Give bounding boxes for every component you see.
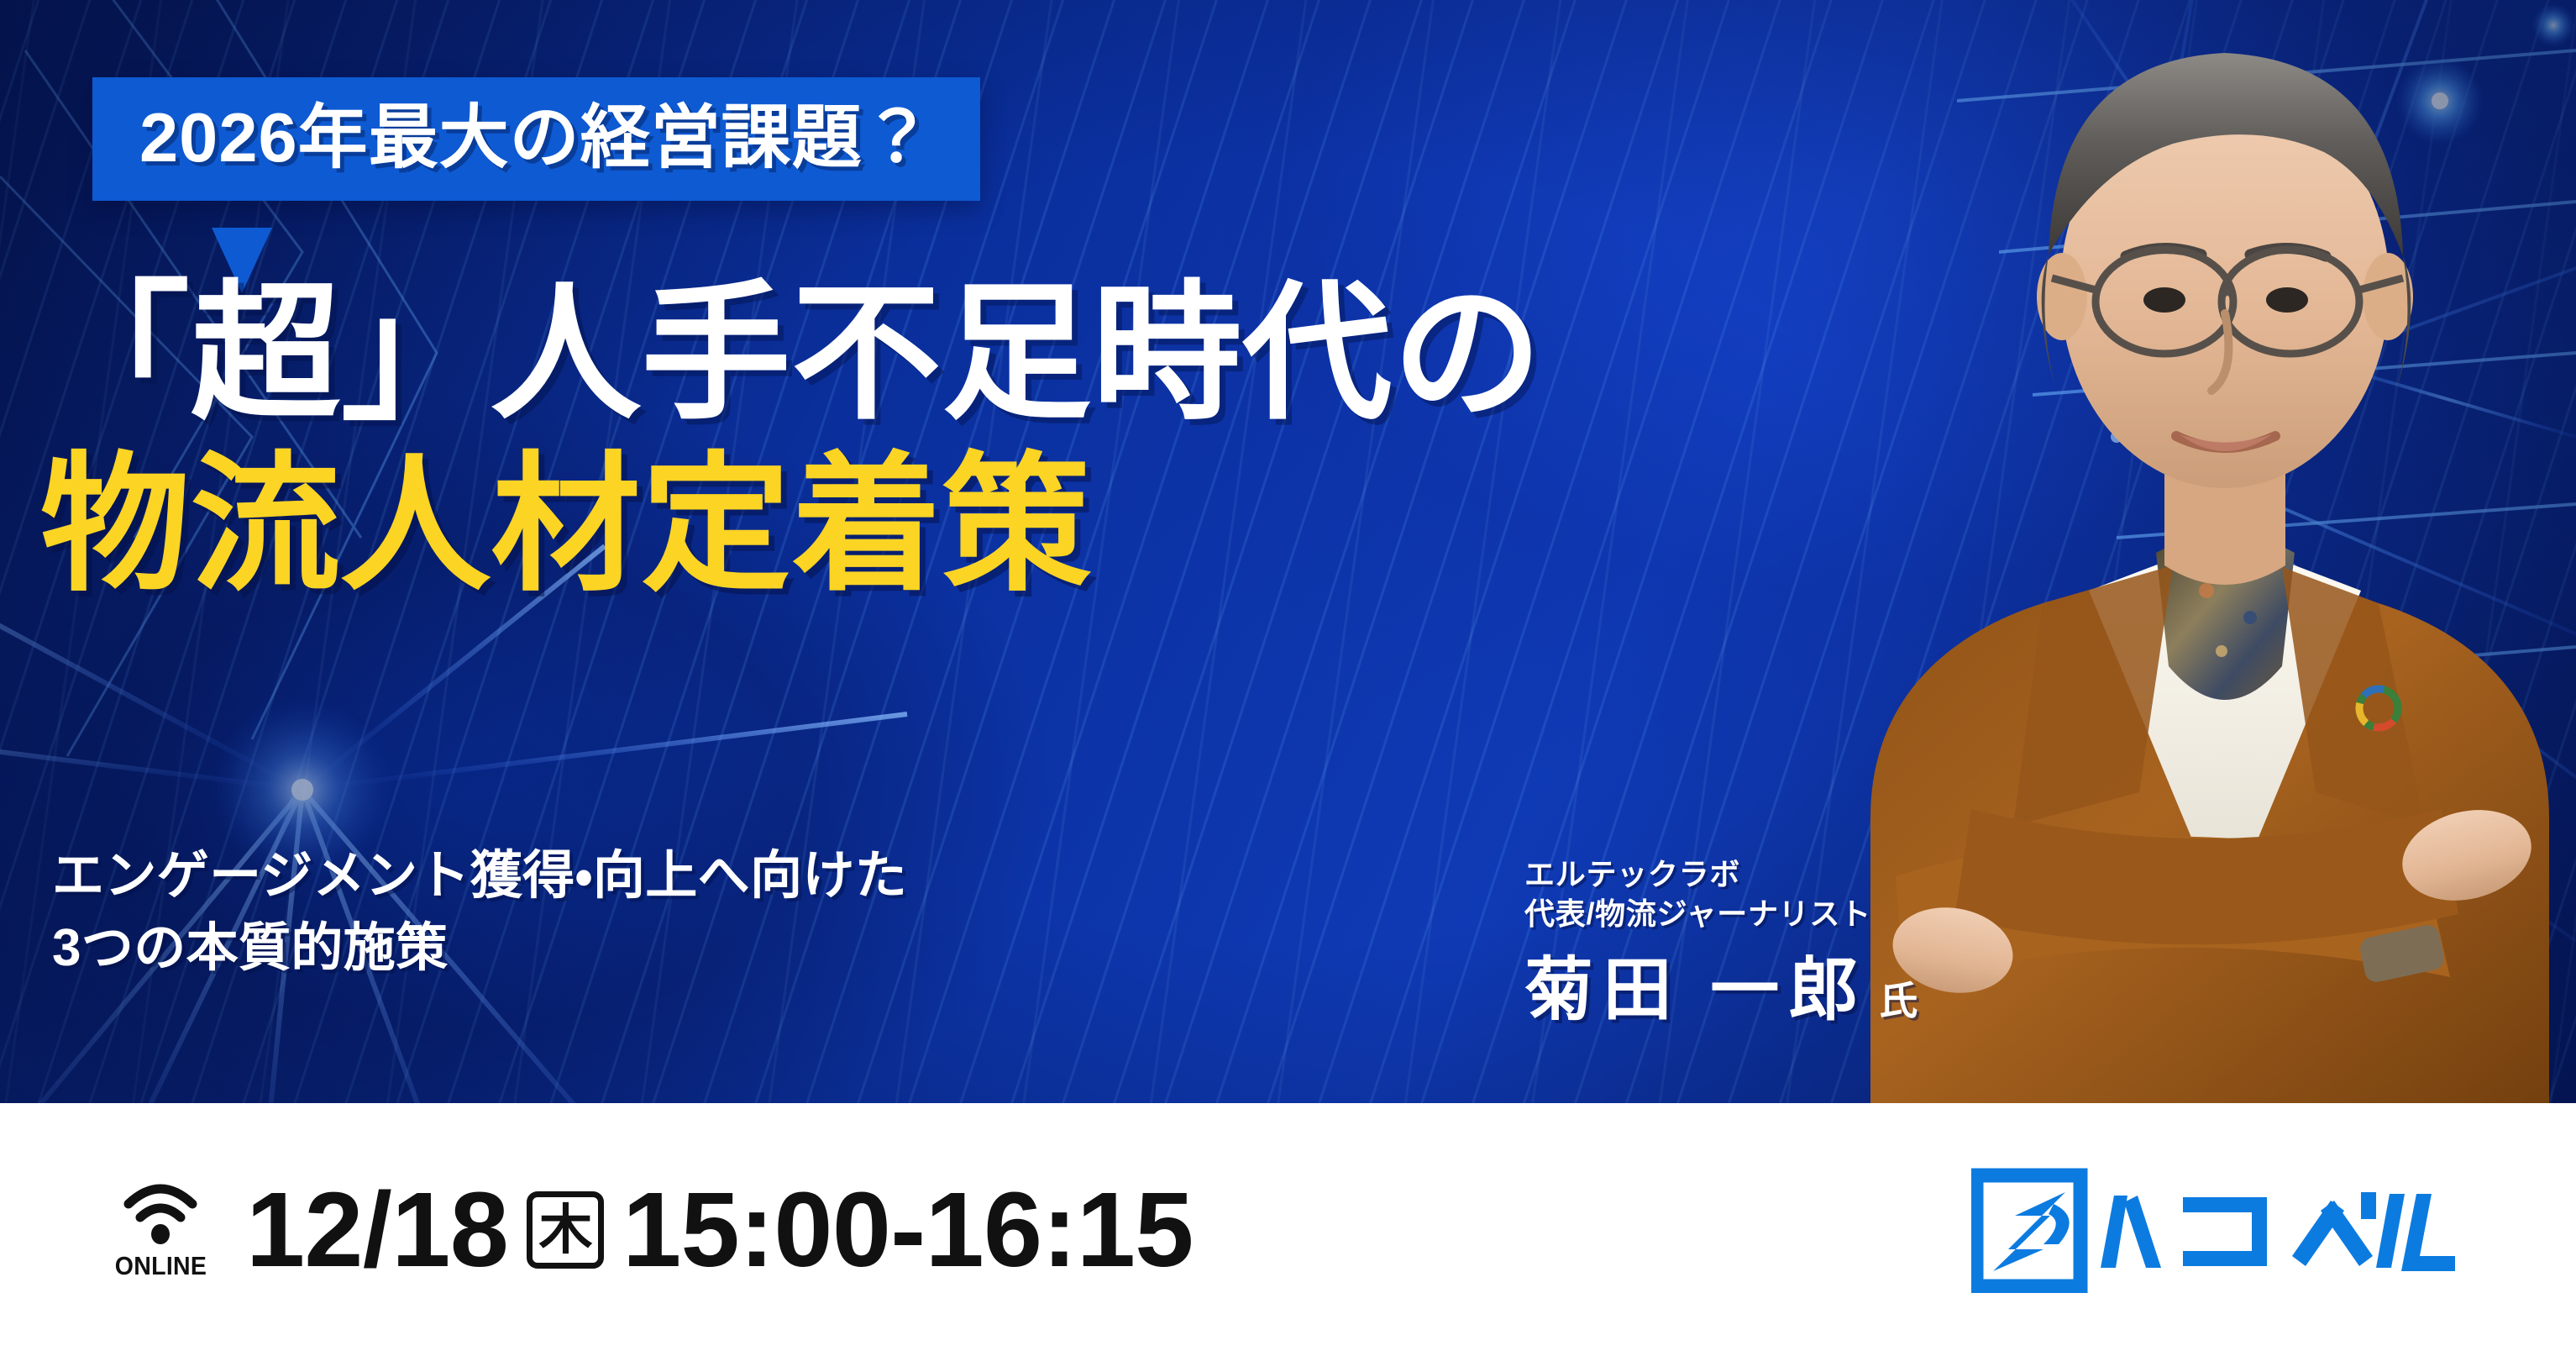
speaker-role: 代表/物流ジャーナリスト — [1524, 895, 1918, 934]
subtitle: エンゲージメント獲得・向上へ向けた 3つの本質的施策 — [52, 840, 907, 984]
speaker-name-row: 菊田 一郎 氏 — [1524, 956, 1918, 1025]
online-badge: ONLINE — [111, 1179, 211, 1281]
online-label: ONLINE — [115, 1251, 207, 1281]
hacobell-logo-svg — [1971, 1167, 2475, 1293]
hacobell-wordmark — [2101, 1192, 2455, 1271]
speaker-organization: エルテックラボ — [1524, 855, 1918, 895]
event-time: 15:00-16:15 — [622, 1177, 1194, 1283]
subtitle-line-1: エンゲージメント獲得・向上へ向けた — [52, 840, 907, 912]
hacobell-logo[interactable] — [1971, 1167, 2475, 1293]
speaker-honorific: 氏 — [1879, 981, 1918, 1025]
speaker-name: 菊田 一郎 — [1524, 956, 1867, 1025]
headline: 「超」人手不足時代の 物流人材定着策 — [40, 277, 1543, 601]
event-date: 12/18 — [246, 1177, 508, 1283]
footer-event-details: ONLINE 12/18 木 15:00-16:15 — [111, 1177, 1194, 1283]
webinar-banner: 2026年最大の経営課題？ 「超」人手不足時代の 物流人材定着策 エンゲージメン… — [0, 0, 2576, 1356]
subtitle-line-2: 3つの本質的施策 — [52, 912, 907, 985]
speaker-info: エルテックラボ 代表/物流ジャーナリスト 菊田 一郎 氏 — [1524, 855, 1918, 1025]
headline-line-2: 物流人材定着策 — [40, 449, 1543, 602]
footer-brand — [1971, 1167, 2475, 1293]
wifi-icon — [120, 1179, 201, 1244]
footer-bar: ONLINE 12/18 木 15:00-16:15 — [0, 1103, 2576, 1356]
event-datetime: 12/18 木 15:00-16:15 — [246, 1177, 1194, 1283]
headline-line-1: 「超」人手不足時代の — [40, 277, 1543, 430]
event-day-of-week: 木 — [527, 1191, 604, 1269]
hacobell-bolt-mark — [1976, 1175, 2080, 1286]
eyebrow-badge: 2026年最大の経営課題？ — [92, 77, 980, 201]
badge-label: 2026年最大の経営課題？ — [139, 102, 933, 172]
